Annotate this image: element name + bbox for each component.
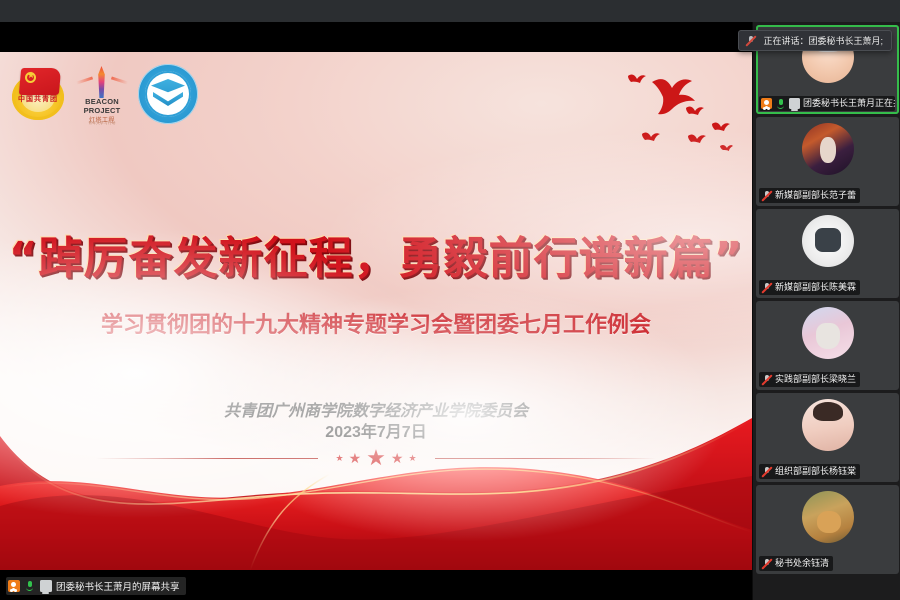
participant-name-badge: 组织部副部长杨钰棠 [759,464,860,479]
flying-doves-decoration [612,60,742,160]
avatar [802,491,854,543]
mic-muted-icon [761,466,772,477]
doves-svg [612,60,742,160]
red-ribbon-decoration [0,410,752,570]
beacon-sub-label: 青年大学习行动 [76,121,128,126]
cyl-emblem-text: 中国共青团 [10,94,66,104]
participant-name: 组织部副部长杨钰棠 [775,465,856,478]
screen-share-icon [789,98,800,109]
participant-name: 团委秘书长王萧月正在共享 [803,97,895,110]
participant-name-badge: 新媒部副部长陈美霖 [759,280,860,295]
host-badge-icon [8,580,20,592]
window-top-band [0,0,900,22]
beacon-project-logo-icon: BEACON PROJECT 灯塔工程 青年大学习行动 [76,65,128,123]
mic-muted-icon [761,374,772,385]
screen-share-icon [40,580,52,592]
host-badge-icon [761,98,772,109]
presentation-slide: 中国共青团 BEACON PROJECT 灯塔工程 青年大学习行动 [0,52,752,570]
avatar [802,123,854,175]
avatar [802,399,854,451]
slide-main-title: “踔厉奋发新征程，勇毅前行谱新篇” [0,222,752,286]
mic-muted-icon [761,558,772,569]
participant-name-badge: 实践部副部长梁晓兰 [759,372,860,387]
active-speaker-text: 正在讲话：团委秘书长王萧月; [763,34,883,47]
share-status-chip: 团委秘书长王萧月的屏幕共享 [6,577,186,595]
participant-name: 新媒部副部长范子蕾 [775,189,856,202]
mic-muted-icon [745,35,756,46]
mic-unmuted-icon [775,98,786,109]
ribbon-svg [0,410,752,570]
slide-logo-group: 中国共青团 BEACON PROJECT 灯塔工程 青年大学习行动 [10,64,198,124]
participant-name-badge: 秘书处余钰清 [759,556,833,571]
participant-tile[interactable]: 组织部副部长杨钰棠 [756,393,899,482]
beacon-en-line2: PROJECT [76,107,128,116]
participant-video-strip[interactable]: 团委秘书长王萧月正在共享 新媒部副部长范子蕾 新媒部副部长陈美霖 实践部副部长梁… [752,22,900,600]
participant-tile[interactable]: 实践部副部长梁晓兰 [756,301,899,390]
avatar [802,215,854,267]
meeting-screen-share-window: 中国共青团 BEACON PROJECT 灯塔工程 青年大学习行动 [0,0,900,600]
shared-screen-region: 中国共青团 BEACON PROJECT 灯塔工程 青年大学习行动 [0,52,752,570]
mic-muted-icon [761,282,772,293]
avatar [802,307,854,359]
participant-name: 实践部副部长梁晓兰 [775,373,856,386]
participant-name-badge: 新媒部副部长范子蕾 [759,188,860,203]
slide-subtitle: 学习贯彻团的十九大精神专题学习会暨团委七月工作例会 [0,307,752,339]
mic-unmuted-icon [24,580,36,592]
participant-tile[interactable]: 新媒部副部长陈美霖 [756,209,899,298]
share-status-text: 团委秘书长王萧月的屏幕共享 [56,579,180,593]
participant-name: 新媒部副部长陈美霖 [775,281,856,294]
participant-tile[interactable]: 秘书处余钰清 [756,485,899,574]
communist-youth-league-emblem-icon: 中国共青团 [10,66,66,122]
participant-name-badge: 团委秘书长王萧月正在共享 [759,96,895,111]
participant-name: 秘书处余钰清 [775,557,829,570]
college-emblem-icon [138,64,198,124]
participant-tile[interactable]: 新媒部副部长范子蕾 [756,117,899,206]
share-status-bar: 团委秘书长王萧月的屏幕共享 [0,570,752,600]
mic-muted-icon [761,190,772,201]
active-speaker-tooltip: 正在讲话：团委秘书长王萧月; [738,30,892,51]
